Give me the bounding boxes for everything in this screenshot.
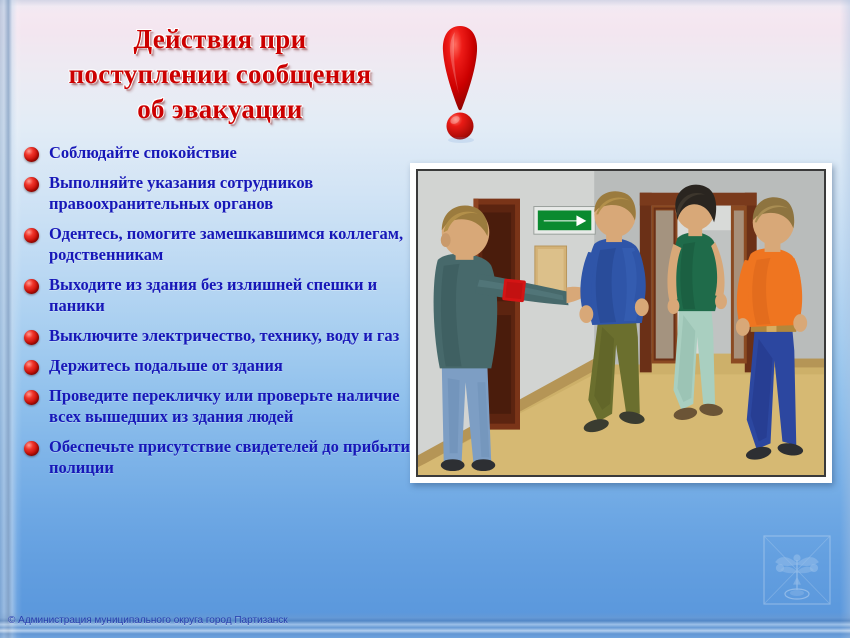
- list-item-label: Выключите электричество, технику, воду и…: [49, 325, 399, 346]
- evacuation-illustration: [416, 169, 826, 477]
- illustration-panel: [410, 163, 832, 483]
- page-title-line-1: Действия при: [30, 22, 410, 57]
- bullet-dot-icon: [24, 360, 39, 375]
- list-item-label: Выполняйте указания сотрудников правоохр…: [49, 172, 424, 214]
- list-item: Выходите из здания без излишней спешки и…: [24, 274, 424, 316]
- instruction-list: Соблюдайте спокойствие Выполняйте указан…: [24, 142, 424, 487]
- slide-frame-top: [0, 0, 850, 14]
- bullet-dot-icon: [24, 390, 39, 405]
- list-item-label: Держитесь подальше от здания: [49, 355, 283, 376]
- list-item: Проведите перекличку или проверьте налич…: [24, 385, 424, 427]
- list-item: Выполняйте указания сотрудников правоохр…: [24, 172, 424, 214]
- list-item: Одентесь, помогите замешкавшимся коллега…: [24, 223, 424, 265]
- copyright-footer: © Администрация муниципального округа го…: [8, 615, 288, 626]
- list-item-label: Выходите из здания без излишней спешки и…: [49, 274, 424, 316]
- bullet-dot-icon: [24, 147, 39, 162]
- exit-sign-arrow-right: [534, 207, 595, 235]
- slide-frame-left: [0, 0, 22, 638]
- list-item: Соблюдайте спокойствие: [24, 142, 424, 163]
- bullet-dot-icon: [24, 330, 39, 345]
- page-title-line-2: поступлении сообщения: [30, 57, 410, 92]
- evacuation-info-slide: Действия при поступлении сообщения об эв…: [0, 0, 850, 638]
- bullet-dot-icon: [24, 228, 39, 243]
- city-coat-of-arms-watermark: [758, 530, 836, 610]
- list-item-label: Одентесь, помогите замешкавшимся коллега…: [49, 223, 424, 265]
- slide-frame-right: [840, 0, 850, 638]
- exclamation-mark-icon: [425, 18, 495, 143]
- page-title: Действия при поступлении сообщения об эв…: [30, 22, 410, 127]
- list-item: Держитесь подальше от здания: [24, 355, 424, 376]
- list-item-label: Обеспечьте присутствие свидетелей до при…: [49, 436, 424, 478]
- list-item-label: Проведите перекличку или проверьте налич…: [49, 385, 424, 427]
- page-title-line-3: об эвакуации: [30, 92, 410, 127]
- list-item-label: Соблюдайте спокойствие: [49, 142, 237, 163]
- bullet-dot-icon: [24, 279, 39, 294]
- list-item: Обеспечьте присутствие свидетелей до при…: [24, 436, 424, 478]
- list-item: Выключите электричество, технику, воду и…: [24, 325, 424, 346]
- bullet-dot-icon: [24, 441, 39, 456]
- bullet-dot-icon: [24, 177, 39, 192]
